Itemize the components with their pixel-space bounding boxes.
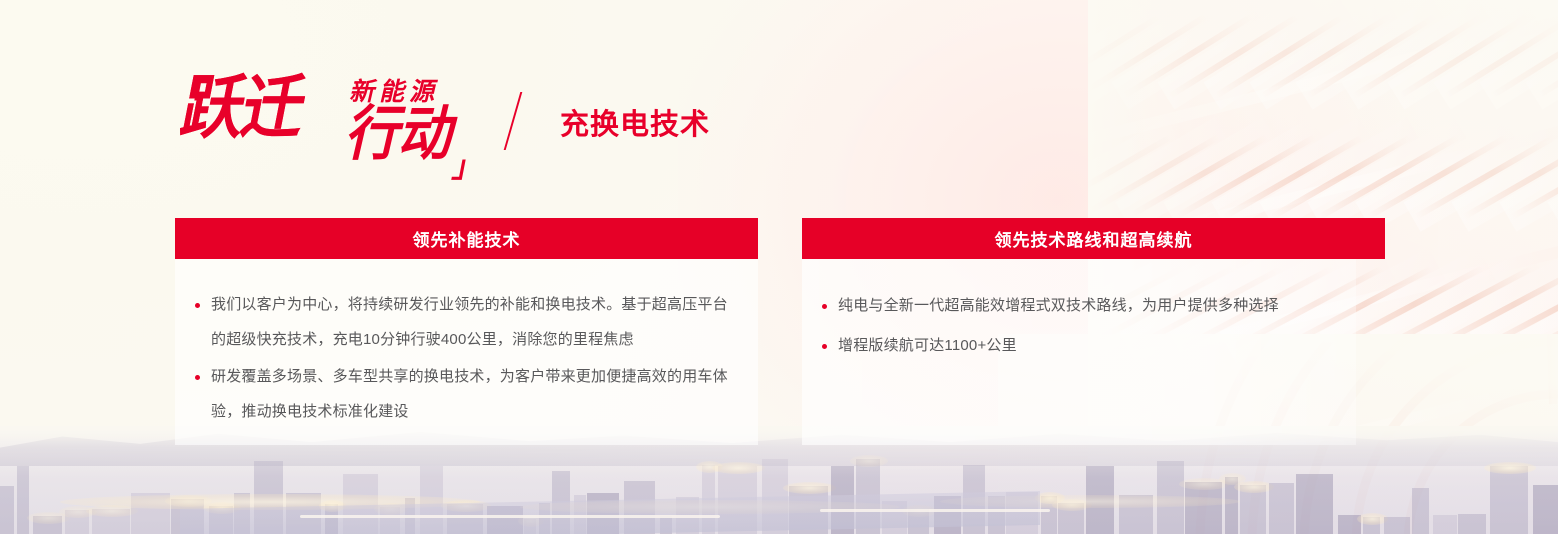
card-body: 我们以客户为中心，将持续研发行业领先的补能和换电技术。基于超高压平台的超级快充技… [175, 259, 758, 445]
logo-main-text: 跃迁 [176, 75, 310, 144]
bullet-list: 纯电与全新一代超高能效增程式双技术路线，为用户提供多种选择 增程版续航可达110… [820, 287, 1334, 365]
card-header: 领先补能技术 [175, 218, 758, 259]
card-header: 领先技术路线和超高续航 [802, 218, 1385, 259]
list-item: 纯电与全新一代超高能效增程式双技术路线，为用户提供多种选择 [820, 287, 1334, 325]
quote-close-icon: 「 [451, 148, 487, 178]
card-body: 纯电与全新一代超高能效增程式双技术路线，为用户提供多种选择 增程版续航可达110… [802, 259, 1356, 445]
list-item: 增程版续航可达1100+公里 [820, 327, 1334, 365]
page-title: 充换电技术 [560, 101, 710, 143]
bullet-list: 我们以客户为中心，将持续研发行业领先的补能和换电技术。基于超高压平台的超级快充技… [193, 287, 736, 429]
card-leading-tech-route-range: 领先技术路线和超高续航 纯电与全新一代超高能效增程式双技术路线，为用户提供多种选… [802, 218, 1385, 445]
hero-banner: 「 跃迁 新能源 行动 「 充换电技术 领先补能技术 我们以客户为中心，将持续研… [0, 0, 1558, 534]
slash-divider-icon [504, 92, 523, 150]
list-item: 我们以客户为中心，将持续研发行业领先的补能和换电技术。基于超高压平台的超级快充技… [193, 287, 736, 357]
brand-logo: 「 跃迁 新能源 行动 「 [176, 76, 476, 172]
logo-action-text: 行动 [342, 105, 462, 164]
banner-header: 「 跃迁 新能源 行动 「 充换电技术 [176, 76, 710, 172]
card-leading-charging-tech: 领先补能技术 我们以客户为中心，将持续研发行业领先的补能和换电技术。基于超高压平… [175, 218, 758, 445]
feature-cards: 领先补能技术 我们以客户为中心，将持续研发行业领先的补能和换电技术。基于超高压平… [175, 218, 1385, 445]
list-item: 研发覆盖多场景、多车型共享的换电技术，为客户带来更加便捷高效的用车体验，推动换电… [193, 359, 736, 429]
